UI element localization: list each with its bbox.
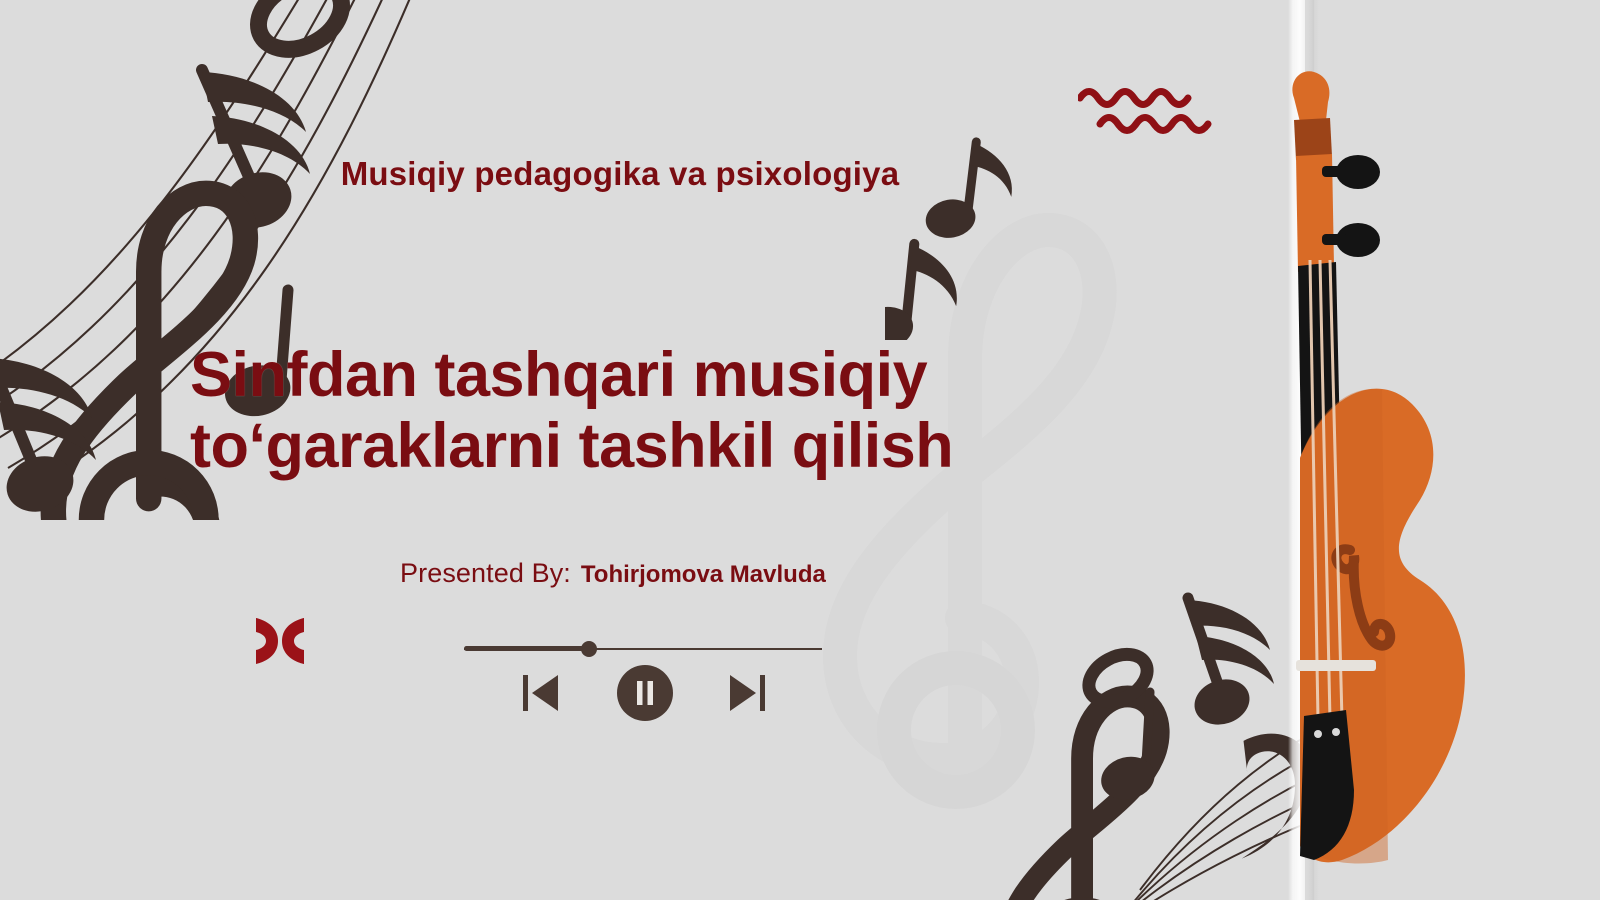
presenter-credit: Presented By: Tohirjomova Mavluda	[400, 558, 826, 589]
presentation-slide: Musiqiy pedagogika va psixologiya Sinfda…	[0, 0, 1600, 900]
x-ornament-icon	[252, 612, 308, 670]
title-line-2: to‘garaklarni tashkil qilish	[190, 411, 1150, 482]
presenter-name: Tohirjomova Mavluda	[581, 561, 826, 589]
title-line-1: Sinfdan tashqari musiqiy	[190, 340, 1150, 411]
media-player[interactable]	[464, 630, 822, 720]
violin-icon	[1270, 60, 1600, 900]
title-group: Musiqiy pedagogika va psixologiya Sinfda…	[0, 0, 1290, 900]
progress-fill	[464, 646, 589, 651]
previous-track-icon[interactable]	[520, 670, 560, 716]
slide-subtitle: Musiqiy pedagogika va psixologiya	[205, 152, 1035, 196]
presented-by-label: Presented By:	[400, 558, 571, 589]
page-title: Sinfdan tashqari musiqiy to‘garaklarni t…	[190, 340, 1150, 481]
player-buttons	[464, 670, 822, 720]
progress-slider[interactable]	[464, 642, 822, 656]
next-track-icon[interactable]	[728, 670, 768, 716]
pause-icon[interactable]	[616, 664, 674, 722]
progress-thumb[interactable]	[581, 641, 597, 657]
